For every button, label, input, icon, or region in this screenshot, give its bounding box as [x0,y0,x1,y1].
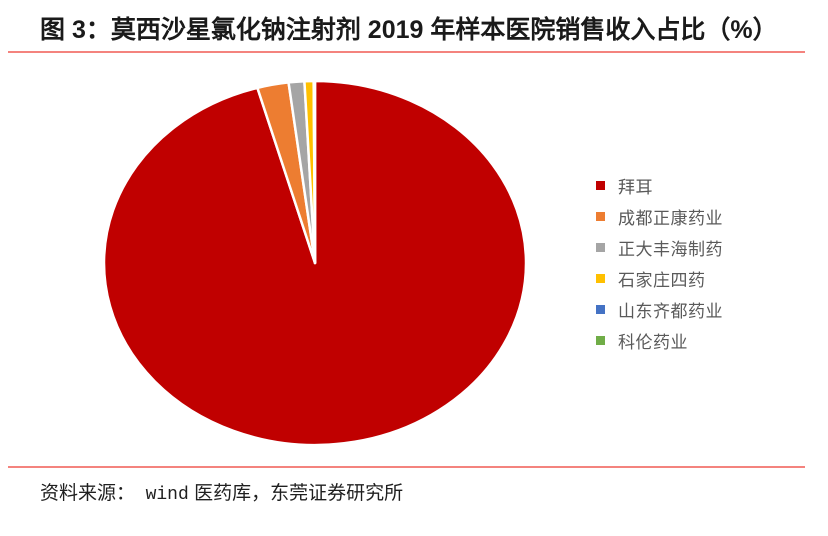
legend-item[interactable]: 山东齐都药业 [588,294,798,325]
figure-card: 图 3：莫西沙星氯化钠注射剂 2019 年样本医院销售收入占比（%） 拜耳成都正… [0,0,828,536]
pie-slice-group [104,81,526,445]
source-suffix: 医药库，东莞证券研究所 [194,483,403,504]
legend-color-swatch [596,274,605,283]
figure-title: 图 3：莫西沙星氯化钠注射剂 2019 年样本医院销售收入占比（%） [40,12,810,48]
legend-color-swatch [596,243,605,252]
legend-item-label: 石家庄四药 [618,266,706,291]
legend-item-label: 科伦药业 [618,328,688,353]
pie-chart [88,77,518,449]
legend-item[interactable]: 正大丰海制药 [588,232,798,263]
legend-item[interactable]: 石家庄四药 [588,263,798,294]
legend-item-label: 正大丰海制药 [618,235,723,260]
legend-item[interactable]: 科伦药业 [588,325,798,356]
legend-item-label: 成都正康药业 [618,204,723,229]
legend-color-swatch [596,305,605,314]
legend-item-label: 拜耳 [618,173,653,198]
chart-legend: 拜耳成都正康药业正大丰海制药石家庄四药山东齐都药业科伦药业 [588,170,798,356]
legend-color-swatch [596,181,605,190]
source-divider-rule [8,466,805,468]
pie-chart-svg [88,77,518,449]
chart-plot-area: 拜耳成都正康药业正大丰海制药石家庄四药山东齐都药业科伦药业 [8,55,805,465]
source-prefix: 资料来源： [40,483,135,504]
source-note: 资料来源： wind 医药库，东莞证券研究所 [40,480,403,508]
legend-color-swatch [596,336,605,345]
legend-item[interactable]: 拜耳 [588,170,798,201]
source-database-name: wind [146,485,189,505]
legend-color-swatch [596,212,605,221]
title-divider-rule [8,51,805,53]
legend-item-label: 山东齐都药业 [618,297,723,322]
legend-item[interactable]: 成都正康药业 [588,201,798,232]
